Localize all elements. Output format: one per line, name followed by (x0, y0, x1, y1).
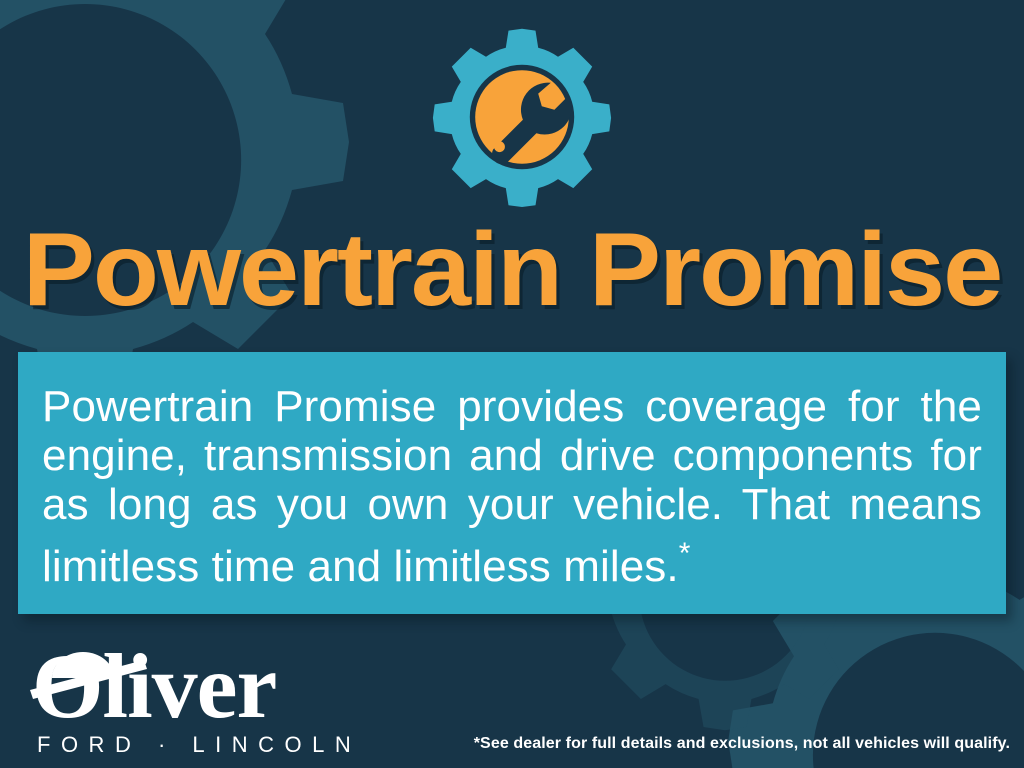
disclaimer-text: *See dealer for full details and exclusi… (474, 735, 1010, 753)
logo-subtitle: FORD · LINCOLN (37, 732, 361, 758)
oliver-ford-lincoln-logo: Oliver FORD · LINCOLN (28, 640, 328, 758)
body-copy: Powertrain Promise provides coverage for… (42, 382, 982, 591)
gear-wrench-icon (432, 22, 612, 212)
body-paragraph-text: Powertrain Promise provides coverage for… (42, 382, 982, 591)
body-panel: Powertrain Promise provides coverage for… (18, 352, 1006, 614)
logo-wordmark: Oliver (32, 640, 276, 732)
footnote-asterisk: * (679, 537, 691, 570)
powertrain-promise-poster: Powertrain Promise Powertrain Promise pr… (0, 0, 1024, 768)
page-title: Powertrain Promise (0, 218, 1024, 322)
